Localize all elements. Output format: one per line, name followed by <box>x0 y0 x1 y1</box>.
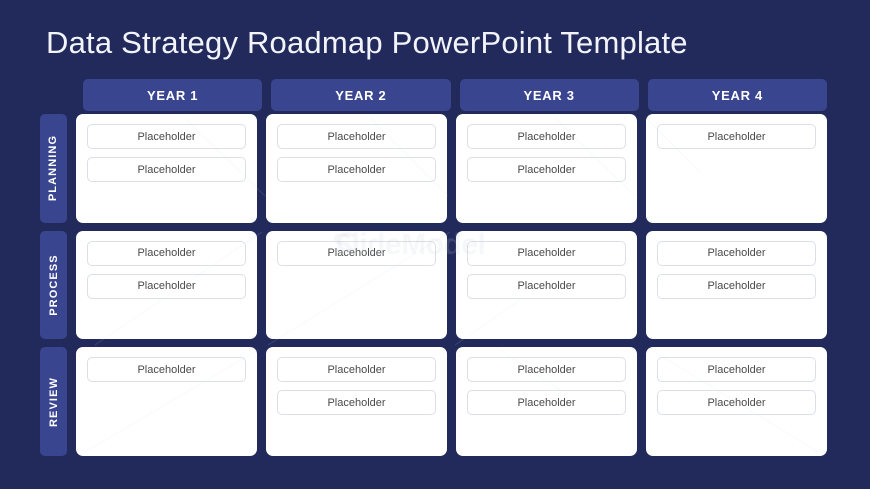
roadmap-row-planning: PLANNING Placeholder Placeholder Placeho… <box>40 114 827 223</box>
cell-process-year1[interactable]: Placeholder Placeholder <box>76 231 257 340</box>
placeholder-item[interactable]: Placeholder <box>87 274 246 299</box>
cell-review-year1[interactable]: Placeholder <box>76 347 257 456</box>
cell-planning-year2[interactable]: Placeholder Placeholder <box>266 114 447 223</box>
placeholder-label: Placeholder <box>517 164 575 176</box>
cell-planning-year1[interactable]: Placeholder Placeholder <box>76 114 257 223</box>
placeholder-label: Placeholder <box>707 247 765 259</box>
placeholder-label: Placeholder <box>137 364 195 376</box>
roadmap-row-review: REVIEW Placeholder Placeholder Placehold… <box>40 347 827 456</box>
placeholder-label: Placeholder <box>327 164 385 176</box>
placeholder-item[interactable]: Placeholder <box>467 357 626 382</box>
cell-process-year3[interactable]: Placeholder Placeholder <box>456 231 637 340</box>
placeholder-item[interactable]: Placeholder <box>87 241 246 266</box>
placeholder-item[interactable]: Placeholder <box>87 157 246 182</box>
year-header-1[interactable]: YEAR 1 <box>83 79 262 111</box>
placeholder-item[interactable]: Placeholder <box>657 357 816 382</box>
placeholder-item[interactable]: Placeholder <box>87 357 246 382</box>
placeholder-label: Placeholder <box>137 280 195 292</box>
placeholder-label: Placeholder <box>327 397 385 409</box>
placeholder-item[interactable]: Placeholder <box>277 124 436 149</box>
placeholder-item[interactable]: Placeholder <box>277 357 436 382</box>
cell-review-year4[interactable]: Placeholder Placeholder <box>646 347 827 456</box>
placeholder-item[interactable]: Placeholder <box>467 157 626 182</box>
year-header-1-label: YEAR 1 <box>147 88 198 103</box>
roadmap-grid: PLANNING Placeholder Placeholder Placeho… <box>40 114 827 456</box>
placeholder-label: Placeholder <box>707 131 765 143</box>
cell-review-year2[interactable]: Placeholder Placeholder <box>266 347 447 456</box>
placeholder-item[interactable]: Placeholder <box>657 390 816 415</box>
placeholder-item[interactable]: Placeholder <box>87 124 246 149</box>
cell-process-year4[interactable]: Placeholder Placeholder <box>646 231 827 340</box>
placeholder-label: Placeholder <box>517 280 575 292</box>
row-label-process-text: PROCESS <box>48 254 60 316</box>
placeholder-item[interactable]: Placeholder <box>657 124 816 149</box>
year-header-2-label: YEAR 2 <box>335 88 386 103</box>
page-title: Data Strategy Roadmap PowerPoint Templat… <box>46 25 688 61</box>
roadmap-row-review-cells: Placeholder Placeholder Placeholder Plac… <box>76 347 827 456</box>
placeholder-label: Placeholder <box>707 364 765 376</box>
row-label-review[interactable]: REVIEW <box>40 347 67 456</box>
placeholder-item[interactable]: Placeholder <box>657 241 816 266</box>
placeholder-item[interactable]: Placeholder <box>277 241 436 266</box>
placeholder-item[interactable]: Placeholder <box>467 124 626 149</box>
placeholder-item[interactable]: Placeholder <box>467 274 626 299</box>
placeholder-label: Placeholder <box>517 397 575 409</box>
placeholder-label: Placeholder <box>517 247 575 259</box>
placeholder-label: Placeholder <box>707 397 765 409</box>
year-header-row: YEAR 1 YEAR 2 YEAR 3 YEAR 4 <box>83 79 827 111</box>
slide-canvas: Data Strategy Roadmap PowerPoint Templat… <box>0 0 870 489</box>
year-header-4-label: YEAR 4 <box>712 88 763 103</box>
placeholder-item[interactable]: Placeholder <box>467 390 626 415</box>
placeholder-label: Placeholder <box>707 280 765 292</box>
placeholder-label: Placeholder <box>137 164 195 176</box>
placeholder-item[interactable]: Placeholder <box>467 241 626 266</box>
placeholder-item[interactable]: Placeholder <box>277 157 436 182</box>
placeholder-label: Placeholder <box>517 131 575 143</box>
year-header-2[interactable]: YEAR 2 <box>271 79 450 111</box>
placeholder-label: Placeholder <box>137 247 195 259</box>
row-label-planning[interactable]: PLANNING <box>40 114 67 223</box>
cell-planning-year3[interactable]: Placeholder Placeholder <box>456 114 637 223</box>
row-label-review-text: REVIEW <box>48 377 60 427</box>
roadmap-row-process: PROCESS Placeholder Placeholder Placehol… <box>40 231 827 340</box>
placeholder-label: Placeholder <box>517 364 575 376</box>
placeholder-label: Placeholder <box>327 364 385 376</box>
cell-process-year2[interactable]: Placeholder <box>266 231 447 340</box>
row-label-process[interactable]: PROCESS <box>40 231 67 340</box>
year-header-3[interactable]: YEAR 3 <box>460 79 639 111</box>
roadmap-row-process-cells: Placeholder Placeholder Placeholder Plac… <box>76 231 827 340</box>
cell-planning-year4[interactable]: Placeholder <box>646 114 827 223</box>
placeholder-label: Placeholder <box>137 131 195 143</box>
year-header-3-label: YEAR 3 <box>524 88 575 103</box>
placeholder-label: Placeholder <box>327 131 385 143</box>
cell-review-year3[interactable]: Placeholder Placeholder <box>456 347 637 456</box>
year-header-4[interactable]: YEAR 4 <box>648 79 827 111</box>
placeholder-label: Placeholder <box>327 247 385 259</box>
roadmap-row-planning-cells: Placeholder Placeholder Placeholder Plac… <box>76 114 827 223</box>
row-label-planning-text: PLANNING <box>48 135 60 201</box>
placeholder-item[interactable]: Placeholder <box>657 274 816 299</box>
placeholder-item[interactable]: Placeholder <box>277 390 436 415</box>
